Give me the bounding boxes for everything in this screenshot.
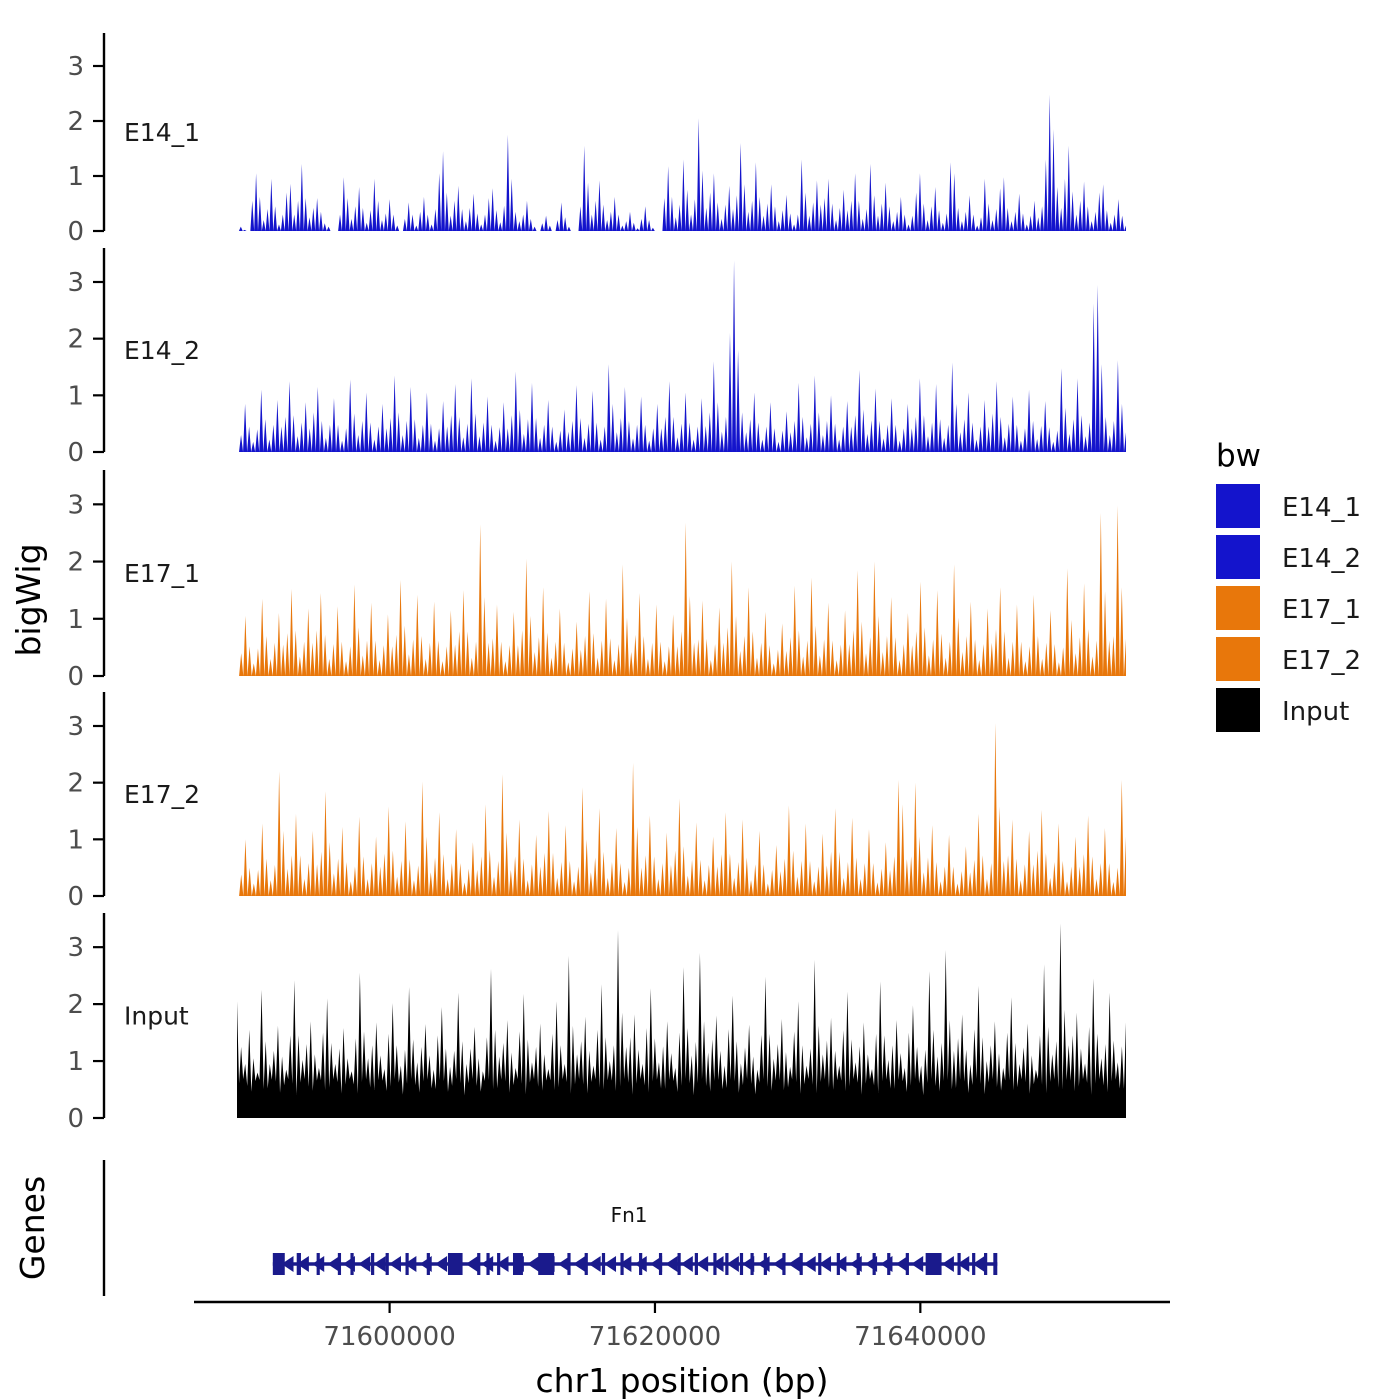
gene-exon	[620, 1253, 623, 1275]
gene-exon	[887, 1253, 890, 1275]
gene-exon	[993, 1253, 997, 1275]
track-panel-e14_2: 0123E14_2	[67, 248, 1126, 468]
gene-strand-arrow	[573, 1256, 585, 1272]
track-label-e17_1: E17_1	[124, 559, 200, 588]
gene-exon	[695, 1253, 698, 1275]
legend-swatch-e17_2[interactable]	[1216, 637, 1260, 681]
y-tick-label-e17_2-1: 1	[67, 825, 84, 855]
y-tick-label-e17_2-2: 2	[67, 769, 84, 799]
gene-strand-arrow	[834, 1256, 846, 1272]
gene-exon	[567, 1253, 570, 1275]
gene-strand-arrow	[589, 1256, 601, 1272]
y-tick-label-e17_1-2: 2	[67, 548, 84, 578]
gene-exon	[448, 1253, 463, 1275]
gene-exon	[338, 1253, 341, 1275]
y-axis-title: bigWig	[9, 543, 48, 656]
gene-strand-arrow	[604, 1256, 616, 1272]
gene-strand-arrow	[727, 1256, 739, 1272]
track-label-input: Input	[124, 1002, 189, 1031]
legend-label-e17_1: E17_1	[1282, 595, 1361, 625]
gene-exon	[317, 1253, 320, 1275]
y-tick-label-e14_1-2: 2	[67, 107, 84, 137]
gene-exon	[906, 1253, 909, 1275]
gene-exon	[371, 1253, 374, 1275]
y-tick-label-e17_1-1: 1	[67, 605, 84, 635]
gene-exon	[639, 1253, 642, 1275]
y-tick-label-e17_1-0: 0	[67, 662, 84, 692]
track-panel-e17_2: 0123E17_2	[67, 692, 1126, 912]
legend-label-input: Input	[1282, 697, 1349, 727]
gene-exon	[800, 1253, 803, 1275]
signal-area-e14_2	[237, 260, 1126, 452]
gene-strand-arrow	[788, 1256, 800, 1272]
signal-area-e17_1	[237, 505, 1126, 676]
legend-title: bw	[1216, 438, 1261, 474]
track-panel-input: 0123Input	[67, 913, 1126, 1134]
legend-label-e14_2: E14_2	[1282, 544, 1361, 574]
signal-area-input	[237, 923, 1126, 1118]
gene-strand-arrow	[466, 1256, 478, 1272]
gene-strand-arrow	[681, 1256, 693, 1272]
y-tick-label-e14_2-3: 3	[67, 268, 84, 298]
gene-exon	[659, 1253, 662, 1275]
gene-exon	[585, 1253, 588, 1275]
gene-exon	[713, 1253, 716, 1275]
gene-exon	[386, 1253, 389, 1275]
track-label-e14_2: E14_2	[124, 336, 200, 365]
gene-strand-arrow	[374, 1256, 386, 1272]
gene-exon	[972, 1253, 975, 1275]
x-axis-title: chr1 position (bp)	[536, 1361, 829, 1400]
track-label-e17_2: E17_2	[124, 780, 200, 809]
gene-exon	[513, 1253, 523, 1275]
gene-exon	[764, 1253, 767, 1275]
gene-exon	[427, 1253, 430, 1275]
legend-swatch-e14_1[interactable]	[1216, 484, 1260, 528]
gene-exon	[486, 1253, 489, 1275]
gene-exon	[818, 1253, 821, 1275]
track-panel-e17_1: 0123E17_1	[67, 470, 1126, 692]
y-tick-label-e14_1-3: 3	[67, 52, 84, 82]
y-tick-label-e14_1-0: 0	[67, 217, 84, 247]
y-tick-label-e14_2-2: 2	[67, 325, 84, 355]
legend-swatch-e14_2[interactable]	[1216, 535, 1260, 579]
genome-browser-figure: 0123E14_10123E14_20123E17_10123E17_20123…	[0, 0, 1400, 1400]
gene-strand-arrow	[527, 1256, 539, 1272]
gene-exon	[957, 1253, 960, 1275]
gene-exon	[538, 1253, 554, 1275]
x-tick-label-71600000: 71600000	[323, 1322, 455, 1352]
track-label-e14_1: E14_1	[124, 118, 200, 147]
gene-exon	[406, 1253, 409, 1275]
gene-exon	[926, 1253, 942, 1275]
gene-name-label: Fn1	[611, 1203, 648, 1227]
y-tick-label-input-0: 0	[67, 1104, 84, 1134]
gene-exon	[273, 1253, 285, 1275]
gene-exon	[740, 1253, 743, 1275]
gene-exon	[857, 1253, 860, 1275]
gene-strand-arrow	[804, 1256, 816, 1272]
gene-strand-arrow	[389, 1256, 401, 1272]
gene-exon	[678, 1253, 681, 1275]
gene-strand-arrow	[665, 1256, 677, 1272]
gene-strand-arrow	[328, 1256, 340, 1272]
signal-area-e14_1	[237, 95, 1126, 231]
genes-panel	[104, 1160, 997, 1296]
gene-strand-arrow	[435, 1256, 447, 1272]
gene-exon	[477, 1253, 480, 1275]
signal-area-e17_2	[237, 723, 1126, 896]
gene-strand-arrow	[850, 1256, 862, 1272]
y-tick-label-e14_1-1: 1	[67, 162, 84, 192]
gene-strand-arrow	[942, 1256, 954, 1272]
x-tick-label-71620000: 71620000	[589, 1322, 721, 1352]
gene-strand-arrow	[758, 1256, 770, 1272]
gene-exon	[602, 1253, 605, 1275]
legend-label-e17_2: E17_2	[1282, 646, 1361, 676]
gene-exon	[837, 1253, 840, 1275]
y-tick-label-e14_2-1: 1	[67, 381, 84, 411]
y-tick-label-e17_2-0: 0	[67, 882, 84, 912]
y-tick-label-input-3: 3	[67, 933, 84, 963]
gene-exon	[873, 1253, 876, 1275]
y-tick-label-input-1: 1	[67, 1047, 84, 1077]
y-tick-label-e17_2-3: 3	[67, 712, 84, 742]
gene-exon	[782, 1253, 785, 1275]
gene-exon	[297, 1253, 301, 1275]
gene-strand-arrow	[358, 1256, 370, 1272]
gene-exon	[750, 1253, 753, 1275]
legend: E14_1E14_2E17_1E17_2Input	[1216, 484, 1361, 732]
gene-exon	[725, 1253, 728, 1275]
x-tick-label-71640000: 71640000	[854, 1322, 986, 1352]
gene-exon	[984, 1253, 987, 1275]
gene-strand-arrow	[880, 1256, 892, 1272]
legend-swatch-input[interactable]	[1216, 688, 1260, 732]
figure-root: 0123E14_10123E14_20123E17_10123E17_20123…	[0, 0, 1400, 1400]
gene-strand-arrow	[911, 1256, 923, 1272]
y-tick-label-e17_1-3: 3	[67, 490, 84, 520]
genes-axis-title: Genes	[13, 1176, 52, 1280]
legend-swatch-e17_1[interactable]	[1216, 586, 1260, 630]
gene-strand-arrow	[712, 1256, 724, 1272]
y-tick-label-e14_2-0: 0	[67, 438, 84, 468]
legend-label-e14_1: E14_1	[1282, 493, 1361, 523]
gene-exon	[350, 1253, 353, 1275]
gene-exon	[497, 1253, 500, 1275]
gene-strand-arrow	[696, 1256, 708, 1272]
y-tick-label-input-2: 2	[67, 990, 84, 1020]
track-panel-e14_1: 0123E14_1	[67, 33, 1126, 247]
